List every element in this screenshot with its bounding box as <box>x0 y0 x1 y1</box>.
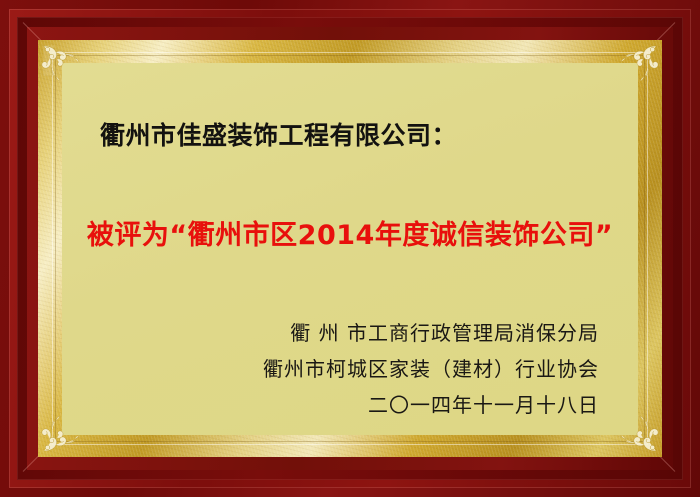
recipient-company-name: 衢州市佳盛装饰工程有限公司： <box>100 116 457 152</box>
issuer-line-1: 衢 州 市工商行政管理局消保分局 <box>290 317 599 346</box>
corner-flourish-ornament-bottom-left <box>40 399 96 455</box>
award-title-text: 被评为“衢州市区2014年度诚信装饰公司” <box>87 213 613 252</box>
pinstripe-top-outer <box>52 52 648 53</box>
award-plaque: 衢州市佳盛装饰工程有限公司： 被评为“衢州市区2014年度诚信装饰公司” 衢 州… <box>0 0 700 497</box>
pinstripe-bottom-outer <box>52 444 648 445</box>
issue-date: 二〇一四年十一月十八日 <box>368 389 599 418</box>
corner-flourish-ornament-bottom-right <box>604 399 660 455</box>
pinstripe-left-inner <box>55 52 56 445</box>
pinstripe-left-outer <box>52 52 53 445</box>
pinstripe-bottom-inner <box>52 441 648 442</box>
issuer-line-2: 衢州市柯城区家装（建材）行业协会 <box>263 353 599 382</box>
pinstripe-right-outer <box>647 52 648 445</box>
pinstripe-right-inner <box>644 52 645 445</box>
corner-flourish-ornament-top-right <box>604 42 660 98</box>
pinstripe-top-inner <box>52 55 648 56</box>
corner-flourish-ornament-top-left <box>40 42 96 98</box>
